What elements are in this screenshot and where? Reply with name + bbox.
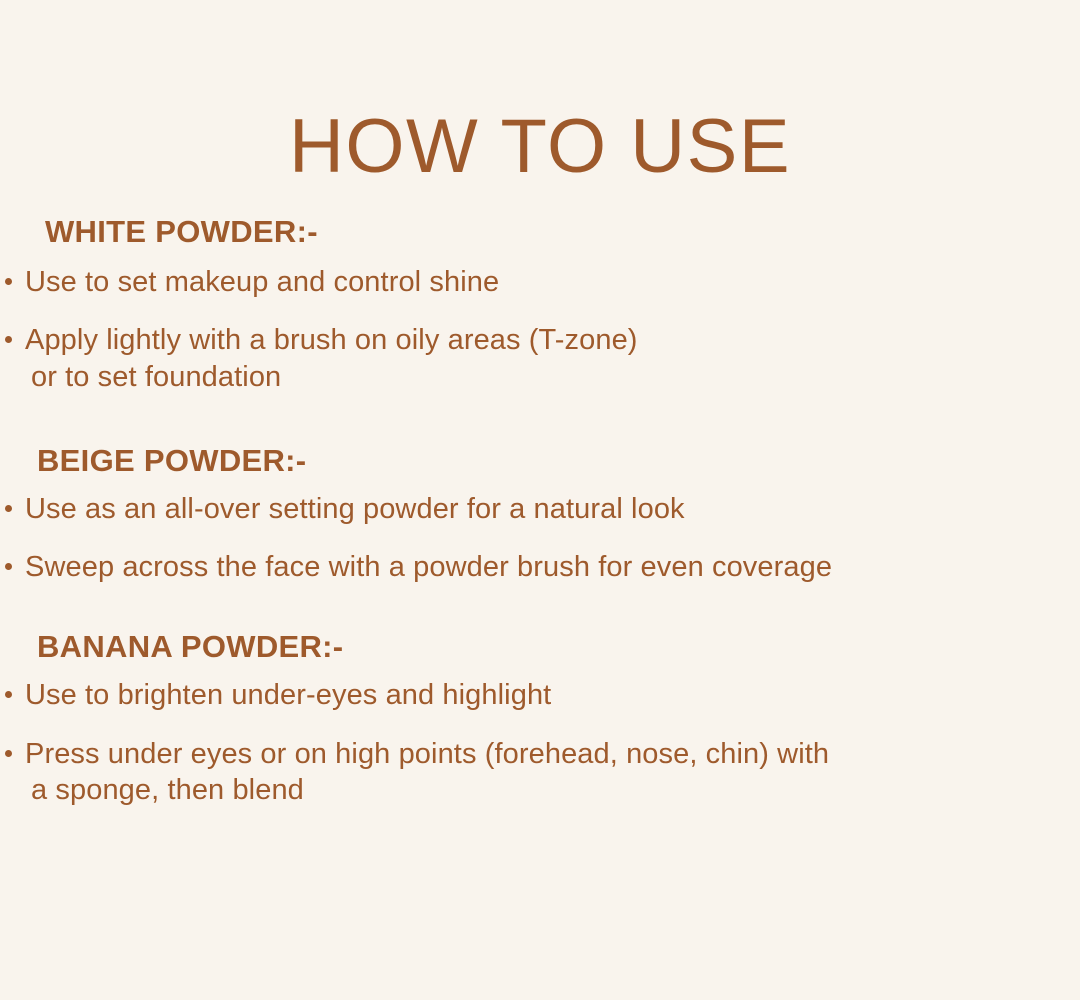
bullet-text-continued: or to set foundation — [25, 359, 1080, 395]
how-to-use-page: HOW TO USE WHITE POWDER:- Use to set mak… — [0, 0, 1080, 1000]
page-title: HOW TO USE — [0, 109, 1080, 185]
section-white-powder: WHITE POWDER:- Use to set makeup and con… — [0, 214, 1080, 395]
bullet-text: Press under eyes or on high points (fore… — [25, 738, 829, 770]
list-item: Press under eyes or on high points (fore… — [0, 736, 1080, 809]
bullet-text: Sweep across the face with a powder brus… — [25, 551, 832, 583]
list-item: Use to brighten under-eyes and highlight — [0, 677, 1080, 713]
section-heading-white-powder: WHITE POWDER:- — [0, 214, 1080, 250]
bullet-text-continued: a sponge, then blend — [25, 772, 1080, 808]
bullet-text: Use to brighten under-eyes and highlight — [25, 679, 551, 711]
bullet-dot-icon — [5, 278, 12, 285]
section-beige-powder: BEIGE POWDER:- Use as an all-over settin… — [0, 443, 1080, 586]
list-item: Use to set makeup and control shine — [0, 264, 1080, 300]
bullet-list-banana-powder: Use to brighten under-eyes and highlight… — [0, 677, 1080, 808]
bullet-text: Apply lightly with a brush on oily areas… — [25, 324, 638, 356]
bullet-dot-icon — [5, 563, 12, 570]
bullet-list-white-powder: Use to set makeup and control shine Appl… — [0, 264, 1080, 395]
bullet-dot-icon — [5, 505, 12, 512]
bullet-dot-icon — [5, 750, 12, 757]
bullet-text: Use to set makeup and control shine — [25, 266, 499, 298]
section-banana-powder: BANANA POWDER:- Use to brighten under-ey… — [0, 629, 1080, 808]
list-item: Apply lightly with a brush on oily areas… — [0, 322, 1080, 395]
section-heading-banana-powder: BANANA POWDER:- — [0, 629, 1080, 665]
bullet-list-beige-powder: Use as an all-over setting powder for a … — [0, 491, 1080, 586]
instructions-content: WHITE POWDER:- Use to set makeup and con… — [0, 214, 1080, 818]
bullet-text: Use as an all-over setting powder for a … — [25, 493, 685, 525]
list-item: Sweep across the face with a powder brus… — [0, 549, 1080, 585]
bullet-dot-icon — [5, 336, 12, 343]
list-item: Use as an all-over setting powder for a … — [0, 491, 1080, 527]
section-heading-beige-powder: BEIGE POWDER:- — [0, 443, 1080, 479]
bullet-dot-icon — [5, 691, 12, 698]
